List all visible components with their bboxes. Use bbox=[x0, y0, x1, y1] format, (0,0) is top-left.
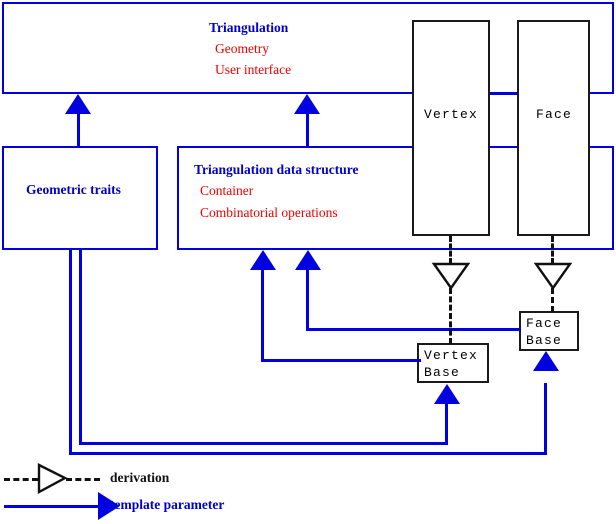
legend-template-line bbox=[4, 505, 100, 508]
geometric-traits-title: Geometric traits bbox=[26, 182, 121, 198]
vertex-base-label-1: Vertex bbox=[424, 347, 478, 365]
legend-derivation-dash-right bbox=[66, 478, 100, 481]
arrow-traits-to-facebase bbox=[533, 351, 559, 371]
class-diagram: Triangulation Geometry User interface Ge… bbox=[0, 0, 616, 524]
triangulation-geometry: Geometry bbox=[215, 41, 269, 57]
arrow-traits-to-vertexbase bbox=[434, 384, 460, 404]
tds-container: Container bbox=[200, 183, 253, 199]
legend-derivation-triangle bbox=[38, 464, 66, 494]
connector-vertexbase-rail-v bbox=[445, 404, 448, 445]
derivation-face-triangle bbox=[535, 263, 571, 289]
legend-template-parameter-label: template parameter bbox=[110, 497, 224, 513]
connector-facebase-rail-v bbox=[544, 383, 547, 455]
connector-traits-rail-outer-h bbox=[69, 452, 547, 455]
face-label: Face bbox=[536, 106, 572, 124]
connector-traits-rail-inner-v bbox=[79, 250, 82, 445]
face-base-label-1: Face bbox=[526, 315, 562, 333]
face-base-label-2: Base bbox=[526, 332, 562, 350]
connector-vertexbase-to-tds-v bbox=[261, 268, 264, 361]
tds-combinatorial-operations: Combinatorial operations bbox=[200, 205, 338, 221]
connector-facebase-to-tds-h bbox=[306, 328, 521, 331]
vertex-box[interactable] bbox=[412, 20, 490, 236]
legend-derivation-label: derivation bbox=[110, 470, 169, 486]
arrow-vertexbase-to-tds bbox=[250, 250, 276, 270]
connector-tds-to-triangulation bbox=[306, 112, 309, 148]
rail-behind-vertex-top bbox=[490, 92, 517, 95]
connector-facebase-to-tds-v bbox=[306, 268, 309, 330]
arrow-traits-to-triangulation bbox=[65, 94, 91, 114]
connector-traits-rail-outer-v bbox=[69, 250, 72, 455]
derivation-vertex-triangle bbox=[433, 263, 469, 289]
arrow-tds-to-triangulation bbox=[294, 94, 320, 114]
derivation-vertex-dash-bottom bbox=[449, 288, 452, 344]
derivation-face-dash-bottom bbox=[551, 288, 554, 312]
vertex-base-label-2: Base bbox=[424, 364, 460, 382]
derivation-vertex-dash-top bbox=[449, 236, 452, 264]
derivation-face-dash-top bbox=[551, 236, 554, 264]
arrow-facebase-to-tds bbox=[295, 250, 321, 270]
vertex-label: Vertex bbox=[424, 106, 478, 124]
triangulation-user-interface: User interface bbox=[215, 62, 291, 78]
legend-derivation-dash-left bbox=[4, 478, 38, 481]
connector-vertexbase-to-tds-h bbox=[261, 359, 421, 362]
connector-traits-rail-inner-h bbox=[79, 442, 448, 445]
face-box[interactable] bbox=[517, 20, 590, 236]
tds-title: Triangulation data structure bbox=[194, 162, 359, 178]
connector-traits-to-triangulation bbox=[77, 112, 80, 148]
triangulation-title: Triangulation bbox=[209, 20, 288, 36]
